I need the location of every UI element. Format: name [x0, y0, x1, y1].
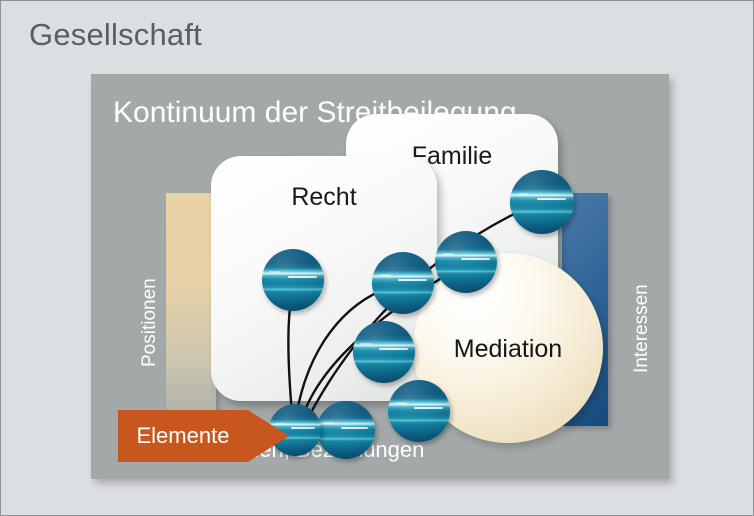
- sphere-streak: [537, 198, 566, 200]
- sphere-streak: [275, 423, 284, 425]
- sphere-streak: [324, 422, 334, 424]
- sphere-streak: [398, 279, 427, 281]
- sphere-streak: [379, 348, 408, 350]
- mediation-label: Mediation: [413, 335, 603, 364]
- sphere-streak: [269, 271, 280, 273]
- card-recht-label: Recht: [211, 183, 437, 212]
- page-title: Gesellschaft: [29, 17, 202, 53]
- sphere-familie-right[interactable]: [510, 170, 574, 234]
- sphere-lower-mid[interactable]: [353, 321, 415, 383]
- axis-label-positionen: Positionen: [139, 278, 161, 367]
- sphere-streak: [291, 427, 315, 429]
- elemente-label: Elemente: [118, 423, 248, 449]
- sphere-streak: [341, 427, 368, 429]
- sphere-bottom-mid[interactable]: [317, 401, 375, 459]
- axis-label-interessen: Interessen: [631, 284, 653, 373]
- sphere-streak: [414, 407, 443, 409]
- sphere-streak: [461, 258, 490, 260]
- sphere-streak: [288, 276, 317, 278]
- positionen-bar: [166, 193, 216, 426]
- sphere-streak: [518, 193, 530, 195]
- sphere-recht-left[interactable]: [262, 249, 324, 311]
- sphere-streak: [360, 343, 371, 345]
- sphere-center[interactable]: [372, 252, 434, 314]
- sphere-upper-mid[interactable]: [435, 231, 497, 293]
- sphere-streak: [379, 274, 390, 276]
- slide-canvas: Gesellschaft Kontinuum der Streitbeilegu…: [0, 0, 754, 516]
- sphere-streak: [395, 402, 406, 404]
- sphere-streak: [442, 253, 453, 255]
- sphere-lower-right[interactable]: [388, 380, 450, 442]
